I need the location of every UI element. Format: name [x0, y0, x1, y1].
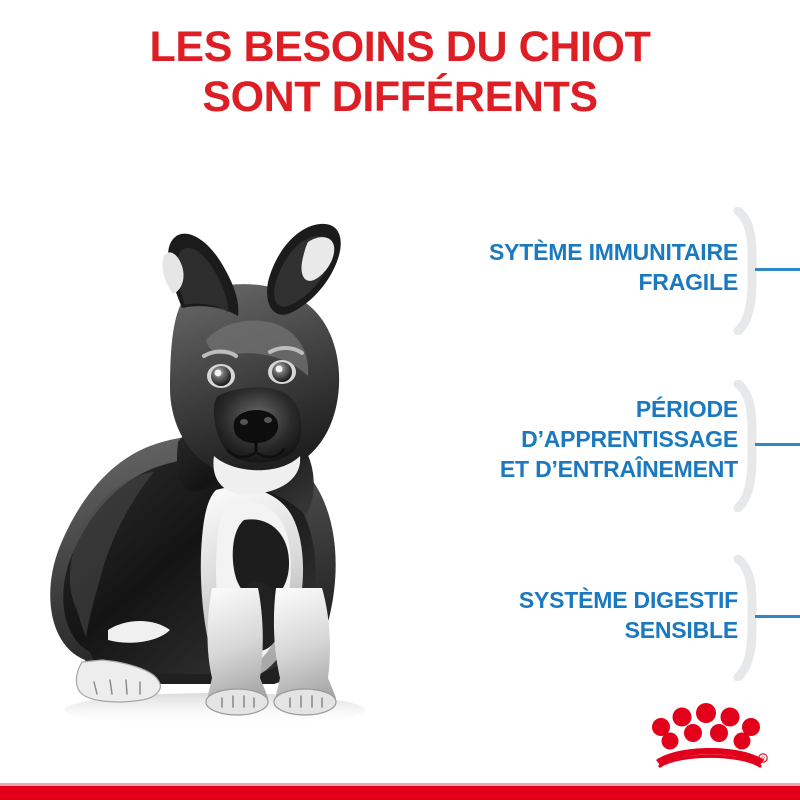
feature-connector-line	[755, 615, 800, 618]
feature-label-digestive-system: SYSTÈME DIGESTIF SENSIBLE	[438, 585, 738, 645]
poster-canvas: LES BESOINS DU CHIOT SONT DIFFÉRENTS	[0, 0, 800, 800]
feature-label-immune-system: SYTÈME IMMUNITAIRE FRAGILE	[438, 237, 738, 297]
svg-text:R: R	[761, 757, 765, 763]
feature-line: SYSTÈME DIGESTIF	[438, 585, 738, 615]
feature-line: SENSIBLE	[438, 615, 738, 645]
brace-icon	[732, 207, 762, 335]
feature-line: PÉRIODE	[438, 394, 738, 424]
footer-red-bar	[0, 786, 800, 800]
puppy-photo	[30, 190, 420, 735]
feature-line: FRAGILE	[438, 267, 738, 297]
feature-line: ET D’ENTRAÎNEMENT	[438, 454, 738, 484]
feature-line: SYTÈME IMMUNITAIRE	[438, 237, 738, 267]
feature-item-learning-training-period: PÉRIODE D’APPRENTISSAGE ET D’ENTRAÎNEMEN…	[430, 380, 800, 520]
brace-icon	[732, 555, 762, 681]
feature-connector-line	[755, 268, 800, 271]
feature-item-immune-system: SYTÈME IMMUNITAIRE FRAGILE	[430, 205, 800, 315]
page-title: LES BESOINS DU CHIOT SONT DIFFÉRENTS	[0, 22, 800, 122]
brace-icon	[732, 380, 762, 512]
feature-line: D’APPRENTISSAGE	[438, 424, 738, 454]
feature-connector-line	[755, 443, 800, 446]
feature-label-learning-training-period: PÉRIODE D’APPRENTISSAGE ET D’ENTRAÎNEMEN…	[438, 394, 738, 484]
royal-canin-crown-logo: R	[648, 700, 772, 768]
page-title-line-1: LES BESOINS DU CHIOT	[0, 22, 800, 72]
feature-list: SYTÈME IMMUNITAIRE FRAGILE PÉRIODE D’APP…	[430, 205, 800, 675]
page-title-line-2: SONT DIFFÉRENTS	[0, 72, 800, 122]
feature-item-digestive-system: SYSTÈME DIGESTIF SENSIBLE	[430, 557, 800, 677]
